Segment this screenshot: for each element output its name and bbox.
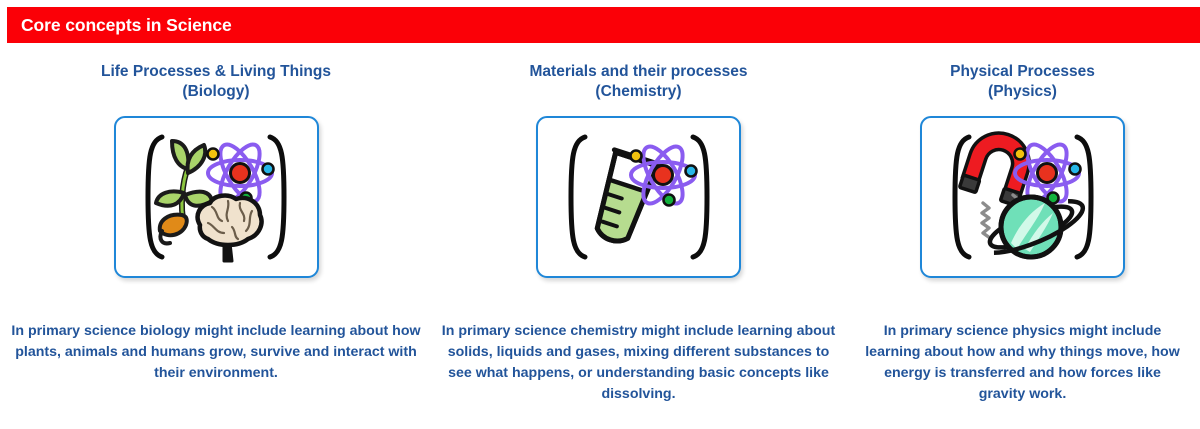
concept-column-physics: Physical Processes (Physics) [845,62,1200,405]
heading-line-1: Materials and their processes [530,63,748,80]
bracket-right-icon [693,137,707,257]
horseshoe-magnet-icon [959,133,1034,206]
brain-icon [198,196,262,261]
heading-line-2: (Chemistry) [595,83,681,100]
electron-yellow-icon [208,149,219,160]
atom-nucleus-icon [231,164,250,183]
column-heading-physics: Physical Processes (Physics) [950,62,1095,102]
biology-icon [128,127,304,267]
atom-nucleus-icon [653,166,672,185]
column-heading-chemistry: Materials and their processes (Chemistry… [530,62,748,102]
electron-cyan-icon [685,166,696,177]
chemistry-icon [551,127,727,267]
icon-card-chemistry [536,116,741,278]
column-heading-biology: Life Processes & Living Things (Biology) [101,62,331,102]
bracket-right-icon [1077,137,1091,257]
heading-line-1: Life Processes & Living Things [101,63,331,80]
column-body-chemistry: In primary science chemistry might inclu… [437,321,841,405]
heading-line-2: (Biology) [182,83,249,100]
icon-card-biology [114,116,319,278]
core-concepts-infographic: Core concepts in Science Life Processes … [0,0,1200,429]
electron-green-icon [663,195,674,206]
concept-columns: Life Processes & Living Things (Biology) [0,62,1200,405]
electron-cyan-icon [1069,164,1080,175]
electron-yellow-icon [1014,149,1025,160]
column-body-physics: In primary science physics might include… [863,321,1183,405]
page-title: Core concepts in Science [7,15,232,36]
electron-cyan-icon [263,164,274,175]
heading-line-1: Physical Processes [950,63,1095,80]
electron-yellow-icon [630,151,641,162]
header-bar: Core concepts in Science [7,7,1200,43]
concept-column-chemistry: Materials and their processes (Chemistry… [432,62,845,405]
concept-column-biology: Life Processes & Living Things (Biology) [0,62,432,405]
bracket-left-icon [955,137,969,257]
bracket-right-icon [270,137,284,257]
physics-icon [935,127,1111,267]
bracket-left-icon [571,137,585,257]
icon-card-physics [920,116,1125,278]
column-body-biology: In primary science biology might include… [6,321,426,384]
ringed-planet-icon [985,197,1088,259]
atom-nucleus-icon [1037,164,1056,183]
heading-line-2: (Physics) [988,83,1057,100]
